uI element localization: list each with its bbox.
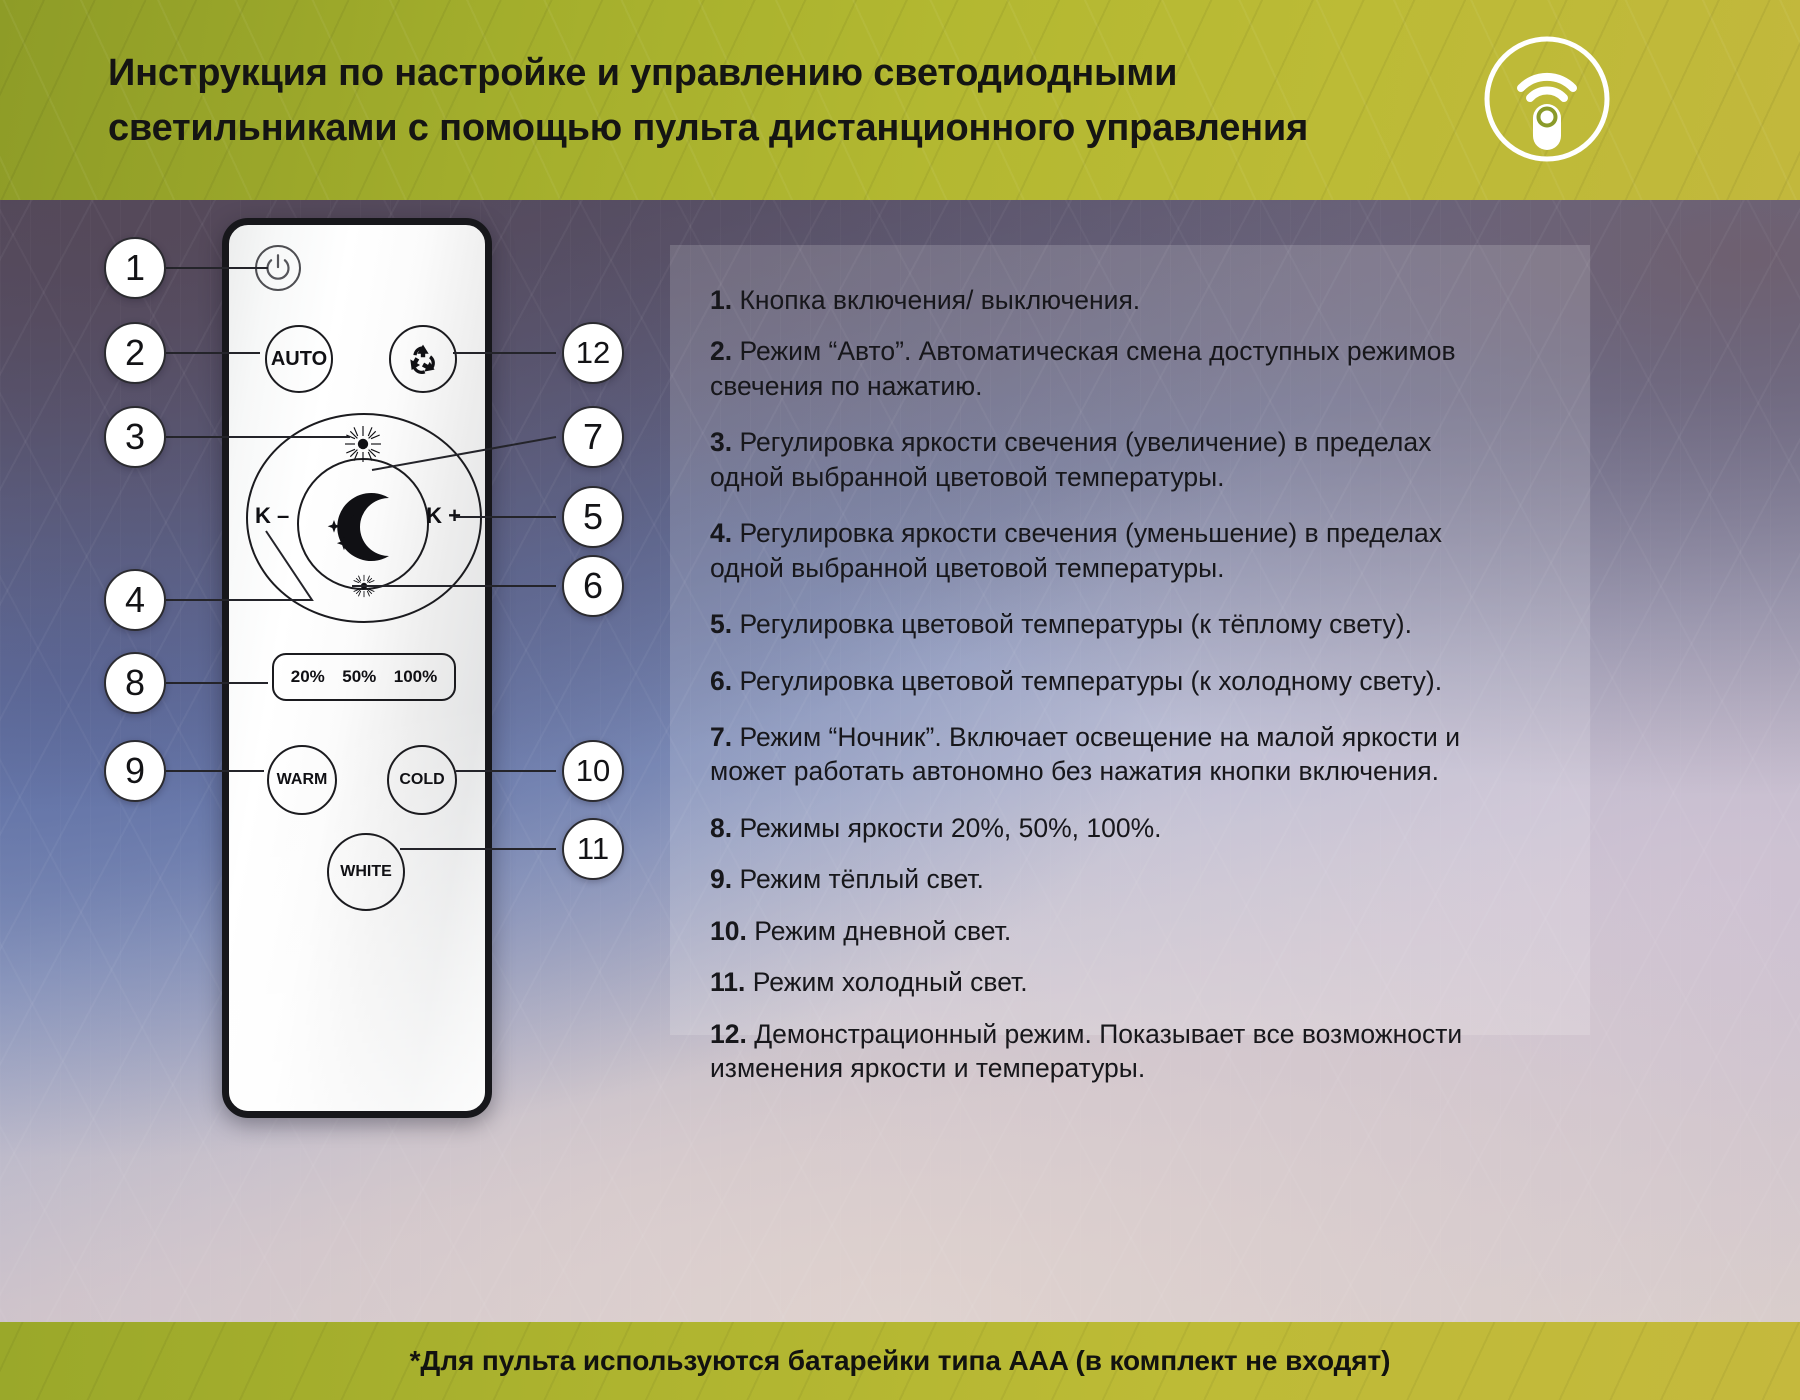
- callout-2[interactable]: 2: [104, 322, 166, 384]
- callout-9[interactable]: 9: [104, 740, 166, 802]
- legend-item-7: 7. Режим “Ночник”. Включает освещение на…: [710, 720, 1500, 789]
- legend-item-10: 10. Режим дневной свет.: [710, 914, 1500, 948]
- legend-number: 7.: [710, 722, 732, 752]
- callout-3[interactable]: 3: [104, 406, 166, 468]
- legend-number: 11.: [710, 967, 745, 997]
- callout-1[interactable]: 1: [104, 237, 166, 299]
- legend-item-2: 2. Режим “Авто”. Автоматическая смена до…: [710, 334, 1500, 403]
- legend-text: Режим холодный свет.: [753, 967, 1028, 997]
- callout-11[interactable]: 11: [562, 818, 624, 880]
- callout-label: 12: [576, 335, 610, 371]
- legend-item-12: 12. Демонстрационный режим. Показывает в…: [710, 1017, 1500, 1086]
- legend-item-3: 3. Регулировка яркости свечения (увеличе…: [710, 425, 1500, 494]
- callout-4[interactable]: 4: [104, 569, 166, 631]
- legend-text: Регулировка яркости свечения (уменьшение…: [710, 518, 1442, 582]
- leader-7: [372, 437, 556, 470]
- legend-panel: 1. Кнопка включения/ выключения. 2. Режи…: [670, 245, 1590, 1035]
- infographic-page: Инструкция по настройке и управлению све…: [0, 0, 1800, 1400]
- legend-number: 2.: [710, 336, 732, 366]
- callout-label: 10: [576, 753, 610, 789]
- legend-text: Режим “Ночник”. Включает освещение на ма…: [710, 722, 1460, 786]
- legend-item-11: 11. Режим холодный свет.: [710, 965, 1500, 999]
- callout-12[interactable]: 12: [562, 322, 624, 384]
- legend-text: Режимы яркости 20%, 50%, 100%.: [739, 813, 1161, 843]
- legend-text: Регулировка цветовой температуры (к тёпл…: [739, 609, 1411, 639]
- callout-label: 3: [125, 416, 145, 458]
- legend-item-8: 8. Режимы яркости 20%, 50%, 100%.: [710, 811, 1500, 845]
- legend-list: 1. Кнопка включения/ выключения. 2. Режи…: [710, 283, 1572, 1085]
- legend-number: 12.: [710, 1019, 747, 1049]
- callout-8[interactable]: 8: [104, 652, 166, 714]
- legend-number: 4.: [710, 518, 732, 548]
- callout-label: 7: [583, 416, 603, 458]
- legend-text: Режим тёплый свет.: [739, 864, 983, 894]
- legend-text: Регулировка яркости свечения (увеличение…: [710, 427, 1431, 491]
- legend-number: 5.: [710, 609, 732, 639]
- callout-10[interactable]: 10: [562, 740, 624, 802]
- legend-item-6: 6. Регулировка цветовой температуры (к х…: [710, 664, 1500, 698]
- legend-number: 8.: [710, 813, 732, 843]
- legend-number: 3.: [710, 427, 732, 457]
- callout-label: 11: [577, 831, 609, 867]
- callout-label: 5: [583, 496, 603, 538]
- legend-text: Регулировка цветовой температуры (к холо…: [739, 666, 1442, 696]
- callout-6[interactable]: 6: [562, 555, 624, 617]
- legend-number: 6.: [710, 666, 732, 696]
- legend-number: 1.: [710, 285, 732, 315]
- legend-text: Кнопка включения/ выключения.: [739, 285, 1140, 315]
- legend-number: 9.: [710, 864, 732, 894]
- callout-label: 2: [125, 332, 145, 374]
- legend-text: Демонстрационный режим. Показывает все в…: [710, 1019, 1462, 1083]
- legend-item-4: 4. Регулировка яркости свечения (уменьше…: [710, 516, 1500, 585]
- callout-label: 6: [583, 565, 603, 607]
- legend-item-5: 5. Регулировка цветовой температуры (к т…: [710, 607, 1500, 641]
- legend-text: Режим дневной свет.: [754, 916, 1011, 946]
- callout-label: 1: [125, 247, 145, 289]
- legend-item-9: 9. Режим тёплый свет.: [710, 862, 1500, 896]
- legend-text: Режим “Авто”. Автоматическая смена досту…: [710, 336, 1456, 400]
- callout-label: 9: [125, 750, 145, 792]
- callout-label: 8: [125, 662, 145, 704]
- legend-item-1: 1. Кнопка включения/ выключения.: [710, 283, 1500, 317]
- callout-5[interactable]: 5: [562, 486, 624, 548]
- callout-7[interactable]: 7: [562, 406, 624, 468]
- legend-number: 10.: [710, 916, 747, 946]
- leader-4: [166, 531, 312, 600]
- callout-label: 4: [125, 579, 145, 621]
